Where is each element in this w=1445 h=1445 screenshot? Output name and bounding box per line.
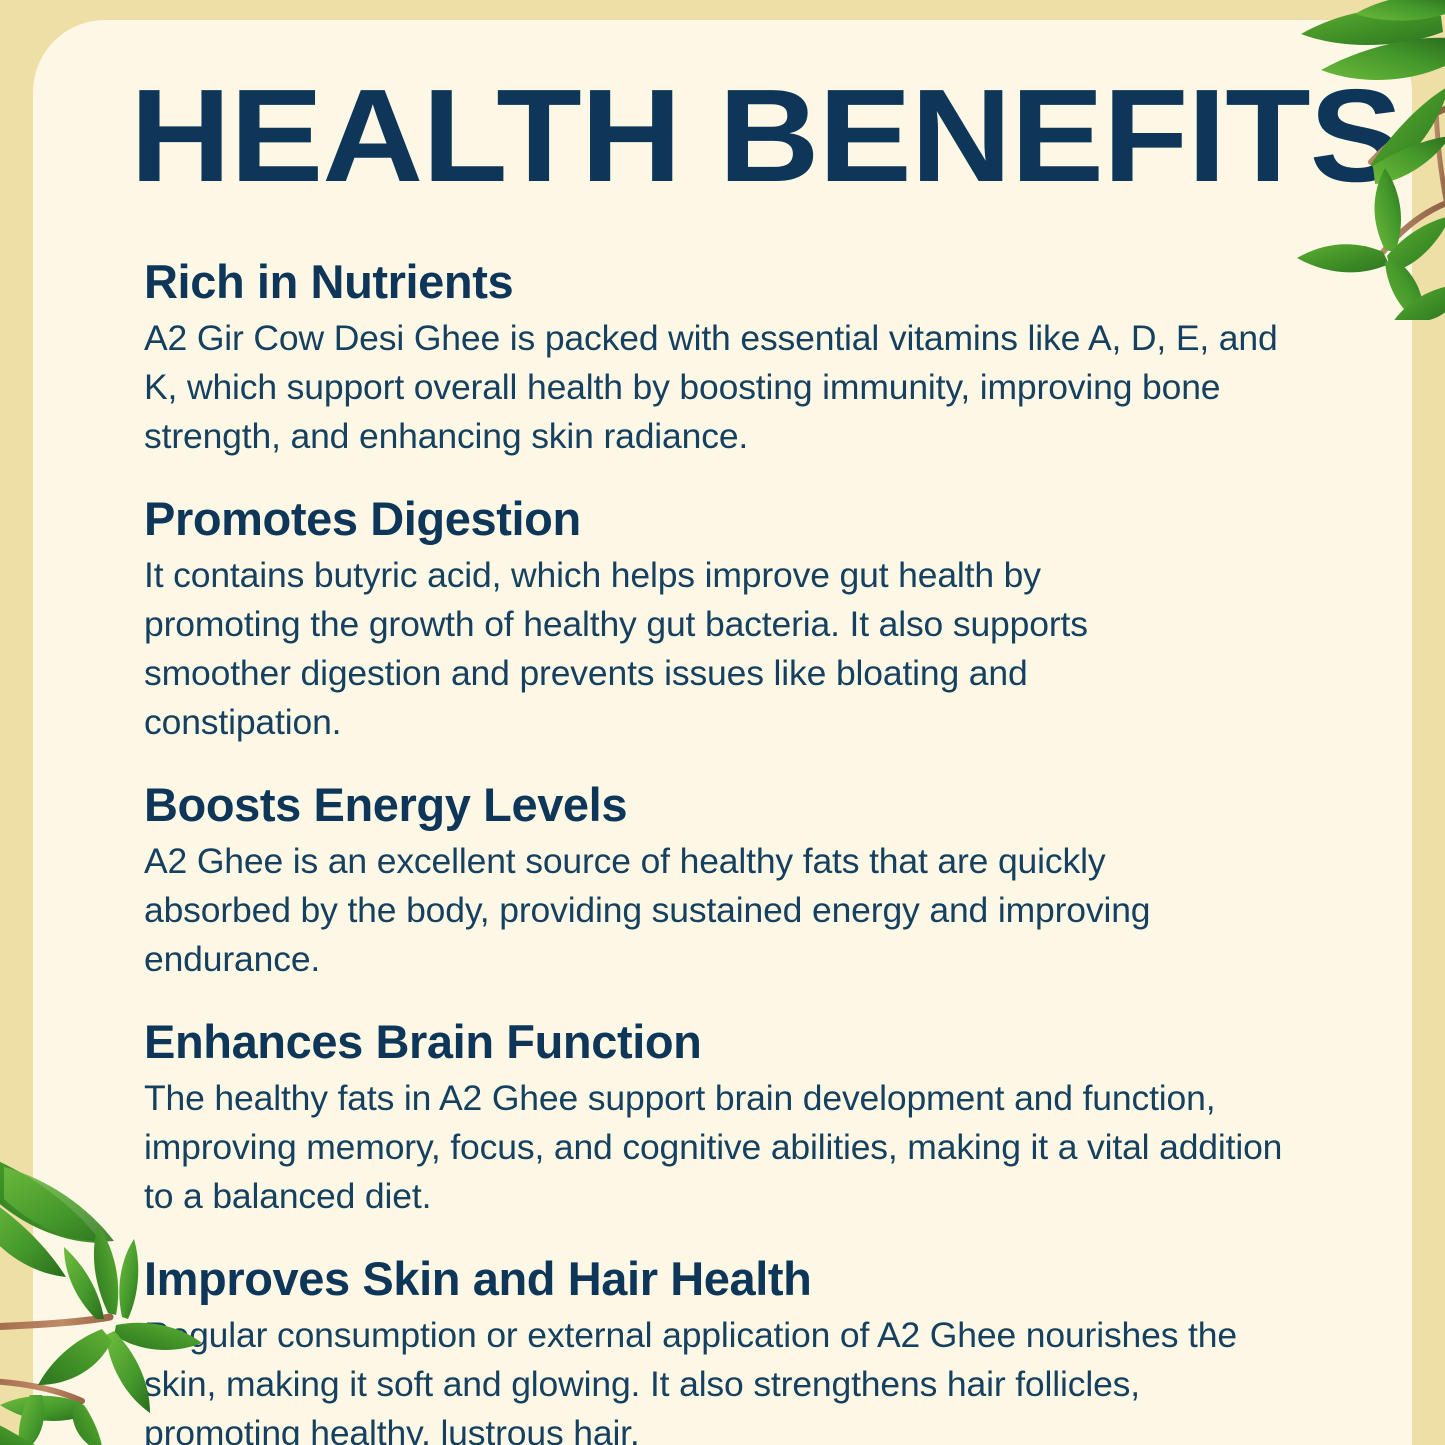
benefit-title: Rich in Nutrients [144,252,1319,312]
benefit-title: Improves Skin and Hair Health [144,1249,1319,1309]
health-benefits-poster: HEALTH BENEFITS Rich in Nutrients A2 Gir… [0,0,1445,1445]
benefit-item: Enhances Brain Function The healthy fats… [144,1012,1319,1221]
benefits-list: Rich in Nutrients A2 Gir Cow Desi Ghee i… [144,252,1319,1445]
benefit-body: It contains butyric acid, which helps im… [144,551,1184,747]
benefit-item: Improves Skin and Hair Health Regular co… [144,1249,1319,1445]
page-title: HEALTH BENEFITS [130,70,1402,202]
benefit-title: Promotes Digestion [144,489,1319,549]
benefit-item: Boosts Energy Levels A2 Ghee is an excel… [144,775,1319,984]
benefit-title: Boosts Energy Levels [144,775,1319,835]
benefit-item: Rich in Nutrients A2 Gir Cow Desi Ghee i… [144,252,1319,461]
benefit-body: Regular consumption or external applicat… [144,1311,1284,1445]
benefit-body: The healthy fats in A2 Ghee support brai… [144,1074,1309,1221]
benefit-title: Enhances Brain Function [144,1012,1319,1072]
benefit-item: Promotes Digestion It contains butyric a… [144,489,1319,747]
benefit-body: A2 Gir Cow Desi Ghee is packed with esse… [144,314,1304,461]
benefit-body: A2 Ghee is an excellent source of health… [144,837,1254,984]
